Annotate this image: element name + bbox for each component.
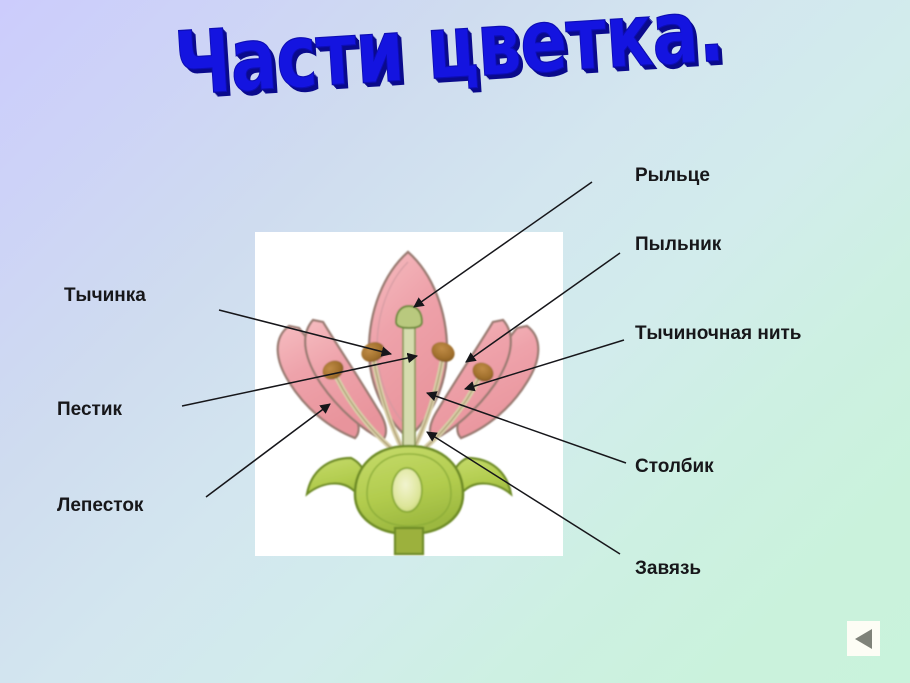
- slide-canvas: Части цветка.: [0, 0, 910, 683]
- label-tychinka: Тычинка: [64, 284, 146, 308]
- back-button[interactable]: [847, 621, 880, 656]
- flower-parts-group: [278, 252, 539, 554]
- label-pylnik: Пыльник: [635, 233, 721, 257]
- label-tychinochnaya-nit: Тычиночная нить: [635, 322, 801, 346]
- label-zavyaz: Завязь: [635, 557, 701, 581]
- label-rylce: Рыльце: [635, 164, 710, 188]
- label-pestik: Пестик: [57, 398, 122, 422]
- label-lepestok: Лепесток: [57, 494, 143, 518]
- ovule-shape: [392, 468, 422, 512]
- stigma-shape: [396, 306, 422, 328]
- flower-diagram-panel: [255, 232, 563, 556]
- style-shape: [403, 324, 415, 448]
- pedicel-shape: [395, 528, 423, 554]
- flower-cross-section-illustration: [255, 232, 563, 556]
- triangle-left-icon: [854, 628, 873, 650]
- page-title: Части цветка.: [175, 24, 735, 129]
- page-title-text: Части цветка.: [172, 0, 703, 113]
- label-stolbik: Столбик: [635, 455, 714, 479]
